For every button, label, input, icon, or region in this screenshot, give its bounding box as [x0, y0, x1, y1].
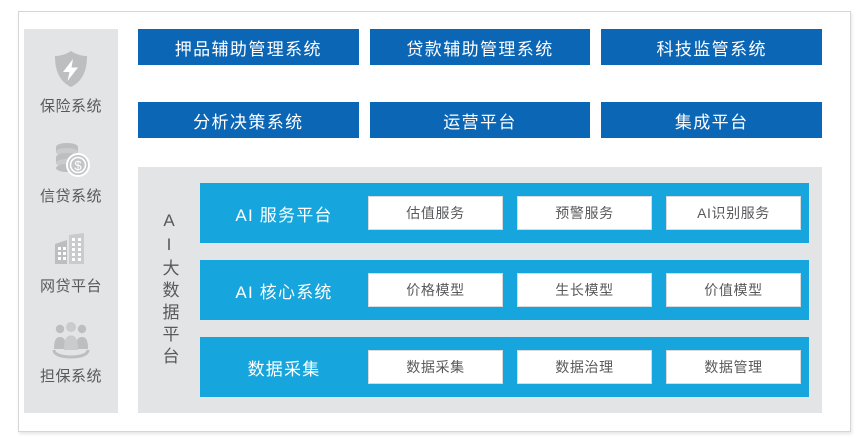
ai-bigdata-platform: AI大数据平台 AI 服务平台 估值服务 预警服务 AI识别服务 AI 核心系统… [138, 167, 822, 413]
sidebar-item-label: 信贷系统 [40, 189, 102, 204]
sidebar-item-online-lending[interactable]: 网贷平台 [24, 226, 118, 316]
buildings-icon [48, 226, 94, 272]
sidebar-item-label: 保险系统 [40, 99, 102, 114]
platform-row-cells: 价格模型 生长模型 价值模型 [368, 273, 801, 307]
platform-cell-price-model[interactable]: 价格模型 [368, 273, 503, 307]
sidebar-item-label: 网贷平台 [40, 279, 102, 294]
platform-row-ai-service: AI 服务平台 估值服务 预警服务 AI识别服务 [200, 183, 809, 243]
architecture-diagram-frame: 保险系统 $ 信贷系统 [18, 11, 851, 432]
sidebar-item-insurance[interactable]: 保险系统 [24, 46, 118, 136]
platform-row-cells: 估值服务 预警服务 AI识别服务 [368, 196, 801, 230]
top-systems-row-1: 押品辅助管理系统 贷款辅助管理系统 科技监管系统 [138, 29, 822, 65]
system-bar-operations-platform[interactable]: 运营平台 [370, 102, 591, 138]
platform-row-cells: 数据采集 数据治理 数据管理 [368, 350, 801, 384]
platform-row-data-collection: 数据采集 数据采集 数据治理 数据管理 [200, 337, 809, 397]
top-systems-row-2: 分析决策系统 运营平台 集成平台 [138, 102, 822, 138]
platform-cell-value-model[interactable]: 价值模型 [666, 273, 801, 307]
platform-row-ai-core: AI 核心系统 价格模型 生长模型 价值模型 [200, 260, 809, 320]
system-bar-tech-supervision[interactable]: 科技监管系统 [601, 29, 822, 65]
coins-dollar-icon: $ [48, 136, 94, 182]
platform-row-title: AI 服务平台 [200, 201, 368, 226]
platform-rows: AI 服务平台 估值服务 预警服务 AI识别服务 AI 核心系统 价格模型 生长… [200, 183, 809, 397]
system-bar-analysis-decision[interactable]: 分析决策系统 [138, 102, 359, 138]
platform-cell-data-management[interactable]: 数据管理 [666, 350, 801, 384]
sidebar-item-guarantee[interactable]: 担保系统 [24, 316, 118, 406]
svg-text:$: $ [74, 158, 82, 173]
people-group-icon [48, 316, 94, 362]
platform-cell-ai-recognition-service[interactable]: AI识别服务 [666, 196, 801, 230]
platform-cell-data-governance[interactable]: 数据治理 [517, 350, 652, 384]
platform-cell-alert-service[interactable]: 预警服务 [517, 196, 652, 230]
platform-cell-valuation-service[interactable]: 估值服务 [368, 196, 503, 230]
system-bar-integration-platform[interactable]: 集成平台 [601, 102, 822, 138]
platform-cell-growth-model[interactable]: 生长模型 [517, 273, 652, 307]
sidebar-item-label: 担保系统 [40, 369, 102, 384]
sidebar-item-credit[interactable]: $ 信贷系统 [24, 136, 118, 226]
system-bar-collateral-aux-mgmt[interactable]: 押品辅助管理系统 [138, 29, 359, 65]
system-bar-loan-aux-mgmt[interactable]: 贷款辅助管理系统 [370, 29, 591, 65]
platform-vertical-label: AI大数据平台 [138, 183, 200, 397]
sidebar: 保险系统 $ 信贷系统 [24, 29, 118, 413]
platform-vertical-label-text: AI大数据平台 [161, 211, 178, 369]
platform-row-title: AI 核心系统 [200, 278, 368, 303]
platform-cell-data-collection[interactable]: 数据采集 [368, 350, 503, 384]
shield-bolt-icon [48, 46, 94, 92]
platform-row-title: 数据采集 [200, 355, 368, 380]
